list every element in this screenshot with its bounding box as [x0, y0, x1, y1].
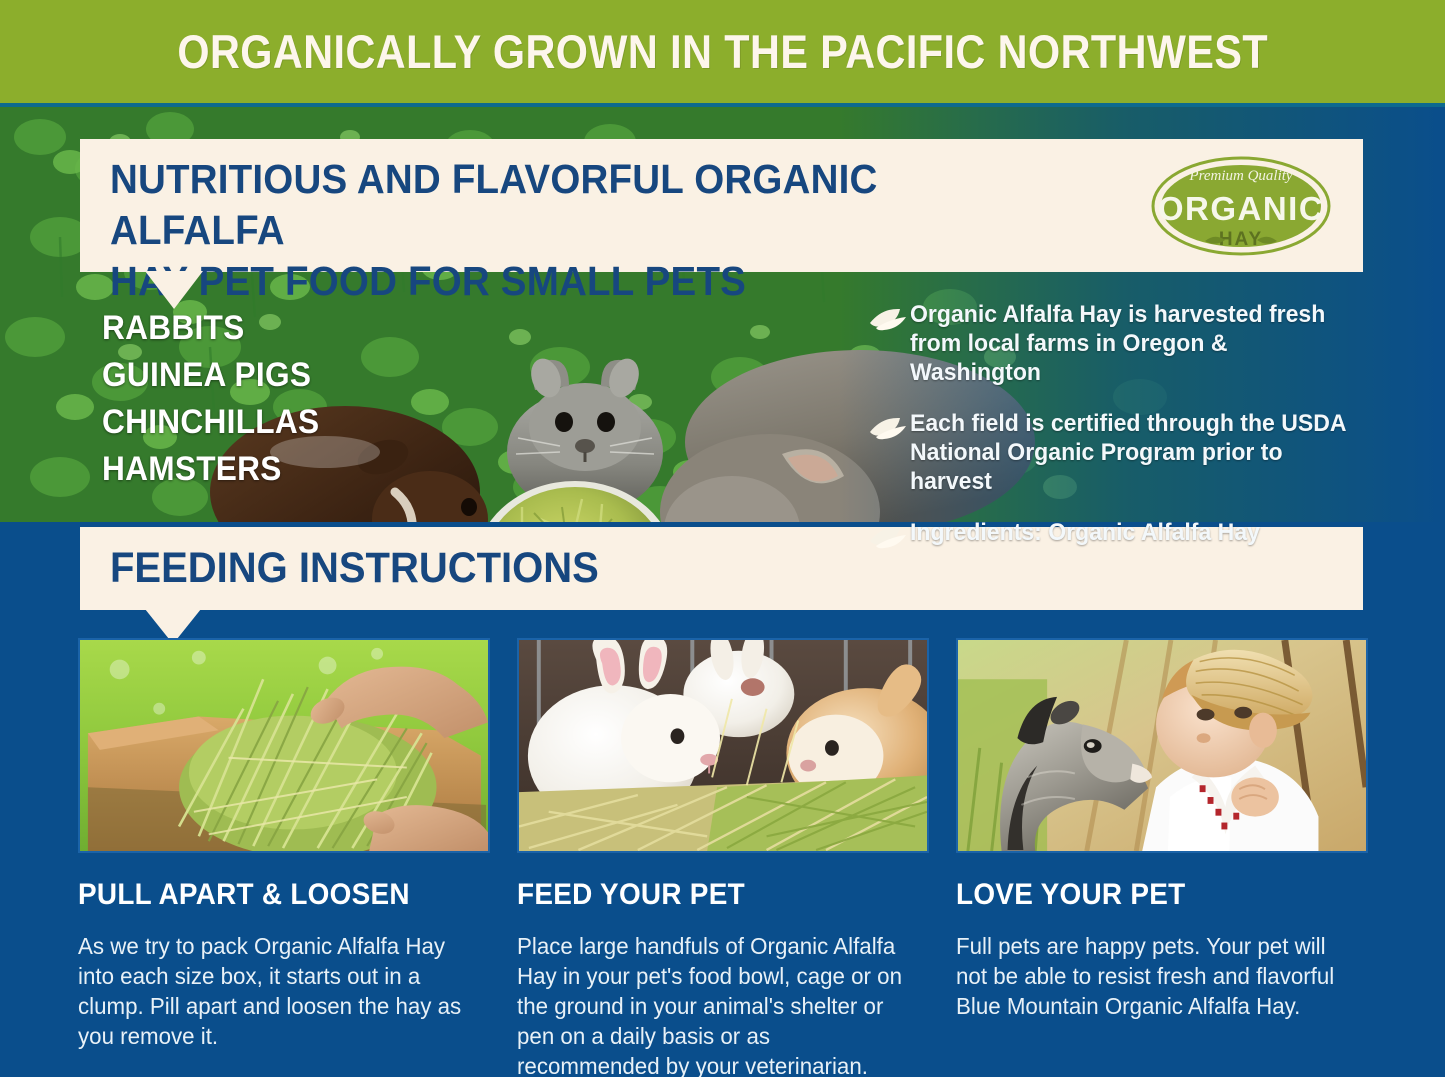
pet-type-item: GUINEA PIGS: [102, 352, 381, 399]
bullet-line2: National Organic Program prior to harves…: [910, 439, 1283, 495]
step-title: FEED YOUR PET: [517, 877, 900, 913]
step-body: As we try to pack Organic Alfalfa Hay in…: [78, 931, 478, 1051]
step-photo-feed-your-pet: [517, 638, 929, 853]
pet-type-item: HAMSTERS: [102, 446, 381, 493]
step-title: LOVE YOUR PET: [956, 877, 1339, 913]
pet-type-item: RABBITS: [102, 305, 381, 352]
bullet-line1: Ingredients: Organic Alfalfa Hay: [910, 519, 1260, 546]
pet-type-list: RABBITS GUINEA PIGS CHINCHILLAS HAMSTERS: [102, 305, 402, 493]
step-body: Full pets are happy pets. Your pet will …: [956, 931, 1356, 1021]
feeding-step: FEED YOUR PET Place large handfuls of Or…: [517, 638, 929, 1077]
feature-bullet-text: Each field is certified through the USDA…: [910, 409, 1359, 496]
feature-bullet-item: Each field is certified through the USDA…: [868, 409, 1378, 496]
svg-text:HAY: HAY: [1219, 229, 1263, 250]
infographic-page: ORGANICALLY GROWN IN THE PACIFIC NORTHWE…: [0, 0, 1445, 1077]
feeding-instructions-title: FEEDING INSTRUCTIONS: [110, 540, 599, 596]
feature-bullet-item: Ingredients: Organic Alfalfa Hay: [868, 518, 1378, 550]
svg-text:Premium Quality: Premium Quality: [1188, 168, 1293, 184]
organic-hay-seal-icon: Premium Quality ORGANIC HAY: [1149, 153, 1333, 259]
bullet-line1: Organic Alfalfa Hay is harvested fresh: [910, 301, 1325, 328]
feature-bullet-text: Ingredients: Organic Alfalfa Hay: [910, 518, 1260, 547]
bullet-line1: Each field is certified through the USDA: [910, 410, 1347, 437]
step-title: PULL APART & LOOSEN: [78, 877, 461, 913]
feeding-step: PULL APART & LOOSEN As we try to pack Or…: [78, 638, 490, 1077]
step-photo-pull-apart: [78, 638, 490, 853]
feature-bullet-list: Organic Alfalfa Hay is harvested fresh f…: [868, 300, 1378, 572]
headline-plate: NUTRITIOUS AND FLAVORFUL ORGANIC ALFALFA…: [80, 139, 1363, 272]
page-title: NUTRITIOUS AND FLAVORFUL ORGANIC ALFALFA…: [110, 154, 1050, 307]
svg-text:ORGANIC: ORGANIC: [1158, 190, 1324, 227]
step-photo-love-your-pet: [956, 638, 1368, 853]
step-body: Place large handfuls of Organic Alfalfa …: [517, 931, 917, 1077]
top-banner: ORGANICALLY GROWN IN THE PACIFIC NORTHWE…: [0, 0, 1445, 103]
pet-type-item: CHINCHILLAS: [102, 399, 381, 446]
page-title-line1: NUTRITIOUS AND FLAVORFUL ORGANIC ALFALFA: [110, 154, 1050, 256]
feature-bullet-text: Organic Alfalfa Hay is harvested fresh f…: [910, 300, 1359, 387]
feeding-step: LOVE YOUR PET Full pets are happy pets. …: [956, 638, 1368, 1077]
feature-bullet-item: Organic Alfalfa Hay is harvested fresh f…: [868, 300, 1378, 387]
top-banner-title: ORGANICALLY GROWN IN THE PACIFIC NORTHWE…: [177, 24, 1268, 79]
leaf-bullet-icon: [868, 524, 910, 550]
feeding-steps: PULL APART & LOOSEN As we try to pack Or…: [78, 638, 1368, 1077]
leaf-bullet-icon: [868, 415, 910, 441]
bullet-line2: from local farms in Oregon & Washington: [910, 330, 1228, 386]
leaf-bullet-icon: [868, 306, 910, 332]
headline-notch: [145, 271, 203, 309]
